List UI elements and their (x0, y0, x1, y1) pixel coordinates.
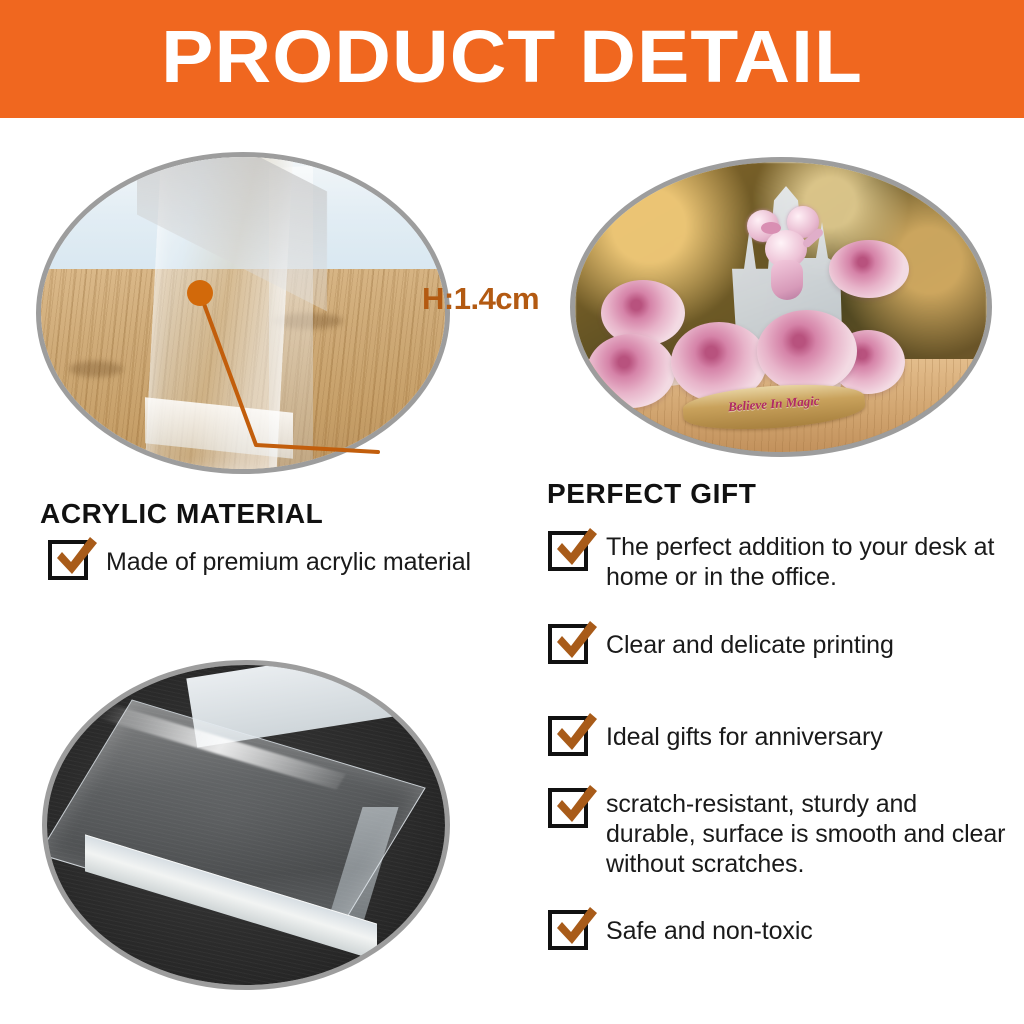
ribbon-text: Believe In Magic (682, 390, 865, 419)
mouse-figure (753, 210, 831, 310)
list-item: Clear and delicate printing (548, 624, 1000, 664)
checkmark-icon (550, 901, 602, 953)
list-item: The perfect addition to your desk at hom… (548, 531, 1000, 592)
list-item-text: Safe and non-toxic (588, 910, 813, 946)
list-item: Ideal gifts for anniversary (548, 716, 1000, 756)
ornament-photo: Believe In Magic (570, 157, 992, 457)
page-title: PRODUCT DETAIL (161, 20, 863, 98)
rose (757, 310, 857, 392)
list-item: scratch-resistant, sturdy and durable, s… (548, 788, 1008, 879)
rose (829, 240, 909, 298)
list-item-text: The perfect addition to your desk at hom… (588, 531, 1000, 592)
checkbox-checked-icon (548, 716, 588, 756)
checkbox-checked-icon (48, 540, 88, 580)
rose (587, 334, 675, 408)
list-item: Safe and non-toxic (548, 910, 1000, 950)
list-item-text: scratch-resistant, sturdy and durable, s… (588, 788, 1008, 879)
ornament-photo-content: Believe In Magic (575, 162, 987, 452)
checkmark-icon (550, 779, 602, 831)
checkmark-icon (50, 531, 102, 583)
list-item-text: Clear and delicate printing (588, 624, 894, 660)
checkbox-checked-icon (548, 624, 588, 664)
acrylic-block-photo (42, 660, 450, 990)
checkmark-icon (550, 707, 602, 759)
checkbox-checked-icon (548, 788, 588, 828)
acrylic-block-photo-content (47, 665, 445, 985)
section-heading-acrylic-material: ACRYLIC MATERIAL (40, 498, 323, 530)
checkbox-checked-icon (548, 531, 588, 571)
section-heading-perfect-gift: PERFECT GIFT (547, 478, 756, 510)
list-item-text: Ideal gifts for anniversary (588, 716, 883, 752)
checkbox-checked-icon (548, 910, 588, 950)
list-item-text: Made of premium acrylic material (88, 540, 471, 577)
header-banner: PRODUCT DETAIL (0, 0, 1024, 118)
acrylic-edge-photo (36, 152, 450, 474)
list-item: Made of premium acrylic material (48, 540, 518, 580)
checkmark-icon (550, 522, 602, 574)
acrylic-edge-photo-content (41, 157, 445, 469)
checkmark-icon (550, 615, 602, 667)
